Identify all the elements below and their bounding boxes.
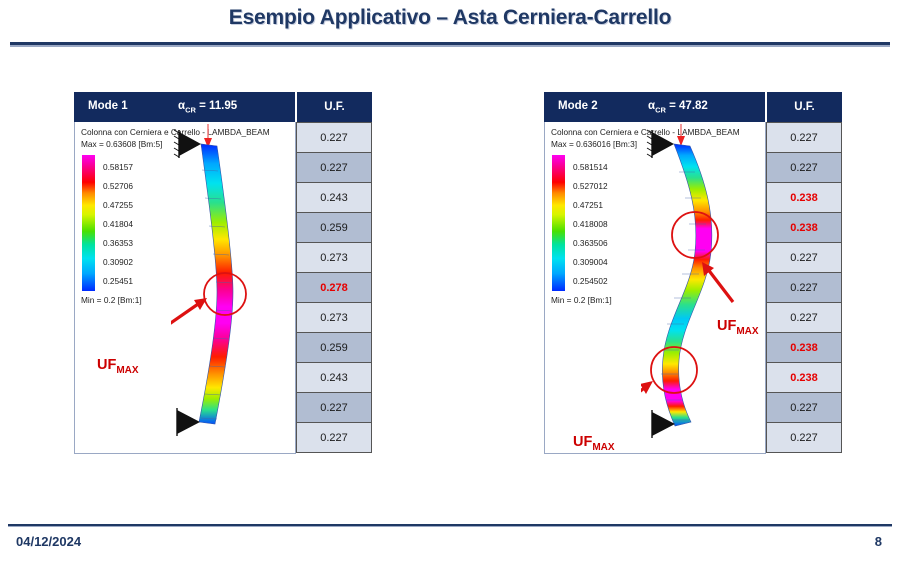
uf-table-left: 0.227 0.227 0.243 0.259 0.273 0.278 0.27… xyxy=(296,122,372,453)
plot-min-value: Min = 0.2 [Bm:1] xyxy=(551,295,612,305)
page-title: Esempio Applicativo – Asta Cerniera-Carr… xyxy=(0,6,900,30)
support-bottom-icon xyxy=(177,408,200,436)
color-legend-bar xyxy=(552,155,565,291)
legend-tick-5: 0.309004 xyxy=(573,257,608,267)
legend-tick-2: 0.47255 xyxy=(103,200,133,210)
alpha-cr-label: αCR = 11.95 xyxy=(178,100,237,114)
legend-tick-0: 0.58157 xyxy=(103,162,133,172)
uf-row: 0.243 xyxy=(297,362,371,392)
uf-row: 0.273 xyxy=(297,302,371,332)
support-top-icon xyxy=(647,130,674,158)
legend-tick-4: 0.363506 xyxy=(573,238,608,248)
uf-row: 0.243 xyxy=(297,182,371,212)
uf-row-max: 0.278 xyxy=(297,272,371,302)
ufmax-annotation-left: UFMAX xyxy=(97,357,139,376)
legend-tick-2: 0.47251 xyxy=(573,200,603,210)
ufmax-arrow-upper xyxy=(702,262,733,302)
legend-tick-1: 0.52706 xyxy=(103,181,133,191)
support-top-icon xyxy=(174,130,201,158)
mode-label: Mode 1 xyxy=(88,100,128,112)
uf-row: 0.227 xyxy=(767,392,841,422)
uf-table-right: 0.227 0.227 0.238 0.238 0.227 0.227 0.22… xyxy=(766,122,842,453)
ufmax-annotation-lower: UFMAX xyxy=(573,434,615,453)
uf-row-max: 0.238 xyxy=(767,362,841,392)
uf-row-max: 0.238 xyxy=(767,212,841,242)
legend-tick-3: 0.41804 xyxy=(103,219,133,229)
plot-max-value: Max = 0.636016 [Bm:3] xyxy=(551,139,637,149)
uf-row: 0.227 xyxy=(767,272,841,302)
color-legend-bar xyxy=(82,155,95,291)
panel-header-left: Mode 1 αCR = 11.95 xyxy=(74,92,296,122)
legend-tick-4: 0.36353 xyxy=(103,238,133,248)
alpha-cr-label: αCR = 47.82 xyxy=(648,100,708,114)
beam-diagram-right xyxy=(641,122,766,454)
uf-row: 0.227 xyxy=(297,392,371,422)
uf-row: 0.259 xyxy=(297,212,371,242)
legend-tick-6: 0.254502 xyxy=(573,276,608,286)
uf-row: 0.227 xyxy=(297,122,371,152)
mode-label: Mode 2 xyxy=(558,100,598,112)
ufmax-arrow xyxy=(171,298,207,338)
uf-row-max: 0.238 xyxy=(767,332,841,362)
ufmax-annotation-upper: UFMAX xyxy=(717,318,759,337)
plot-min-value: Min = 0.2 [Bm:1] xyxy=(81,295,142,305)
load-arrow-icon xyxy=(677,124,685,146)
uf-row: 0.227 xyxy=(297,152,371,182)
beam-diagram-left xyxy=(171,122,296,454)
fem-plot-left: Colonna con Cerniera e Carrello - LAMBDA… xyxy=(74,122,296,454)
uf-row: 0.227 xyxy=(767,152,841,182)
uf-row: 0.227 xyxy=(767,302,841,332)
uf-header-right: U.F. xyxy=(766,92,842,122)
panel-mode-1: Mode 1 αCR = 11.95 Colonna con Cerniera … xyxy=(74,92,372,454)
legend-tick-5: 0.30902 xyxy=(103,257,133,267)
uf-row: 0.227 xyxy=(297,422,371,452)
beam-body xyxy=(199,144,233,424)
uf-row-max: 0.238 xyxy=(767,182,841,212)
title-divider-shadow xyxy=(10,45,890,47)
uf-row: 0.259 xyxy=(297,332,371,362)
panel-mode-2: Mode 2 αCR = 47.82 Colonna con Cerniera … xyxy=(544,92,842,454)
legend-tick-1: 0.527012 xyxy=(573,181,608,191)
uf-row: 0.227 xyxy=(767,422,841,452)
fem-plot-right: Colonna con Cerniera e Carrello - LAMBDA… xyxy=(544,122,766,454)
ufmax-arrow-lower xyxy=(641,381,653,410)
panel-header-right: Mode 2 αCR = 47.82 xyxy=(544,92,766,122)
uf-row: 0.227 xyxy=(767,242,841,272)
footer-page-number: 8 xyxy=(875,534,882,549)
uf-row: 0.227 xyxy=(767,122,841,152)
uf-header-left: U.F. xyxy=(296,92,372,122)
footer-divider-shadow xyxy=(8,526,892,527)
legend-tick-3: 0.418008 xyxy=(573,219,608,229)
legend-tick-0: 0.581514 xyxy=(573,162,608,172)
legend-tick-6: 0.25451 xyxy=(103,276,133,286)
plot-max-value: Max = 0.63608 [Bm:5] xyxy=(81,139,162,149)
beam-body xyxy=(662,144,712,426)
footer-date: 04/12/2024 xyxy=(16,534,81,549)
uf-row: 0.273 xyxy=(297,242,371,272)
